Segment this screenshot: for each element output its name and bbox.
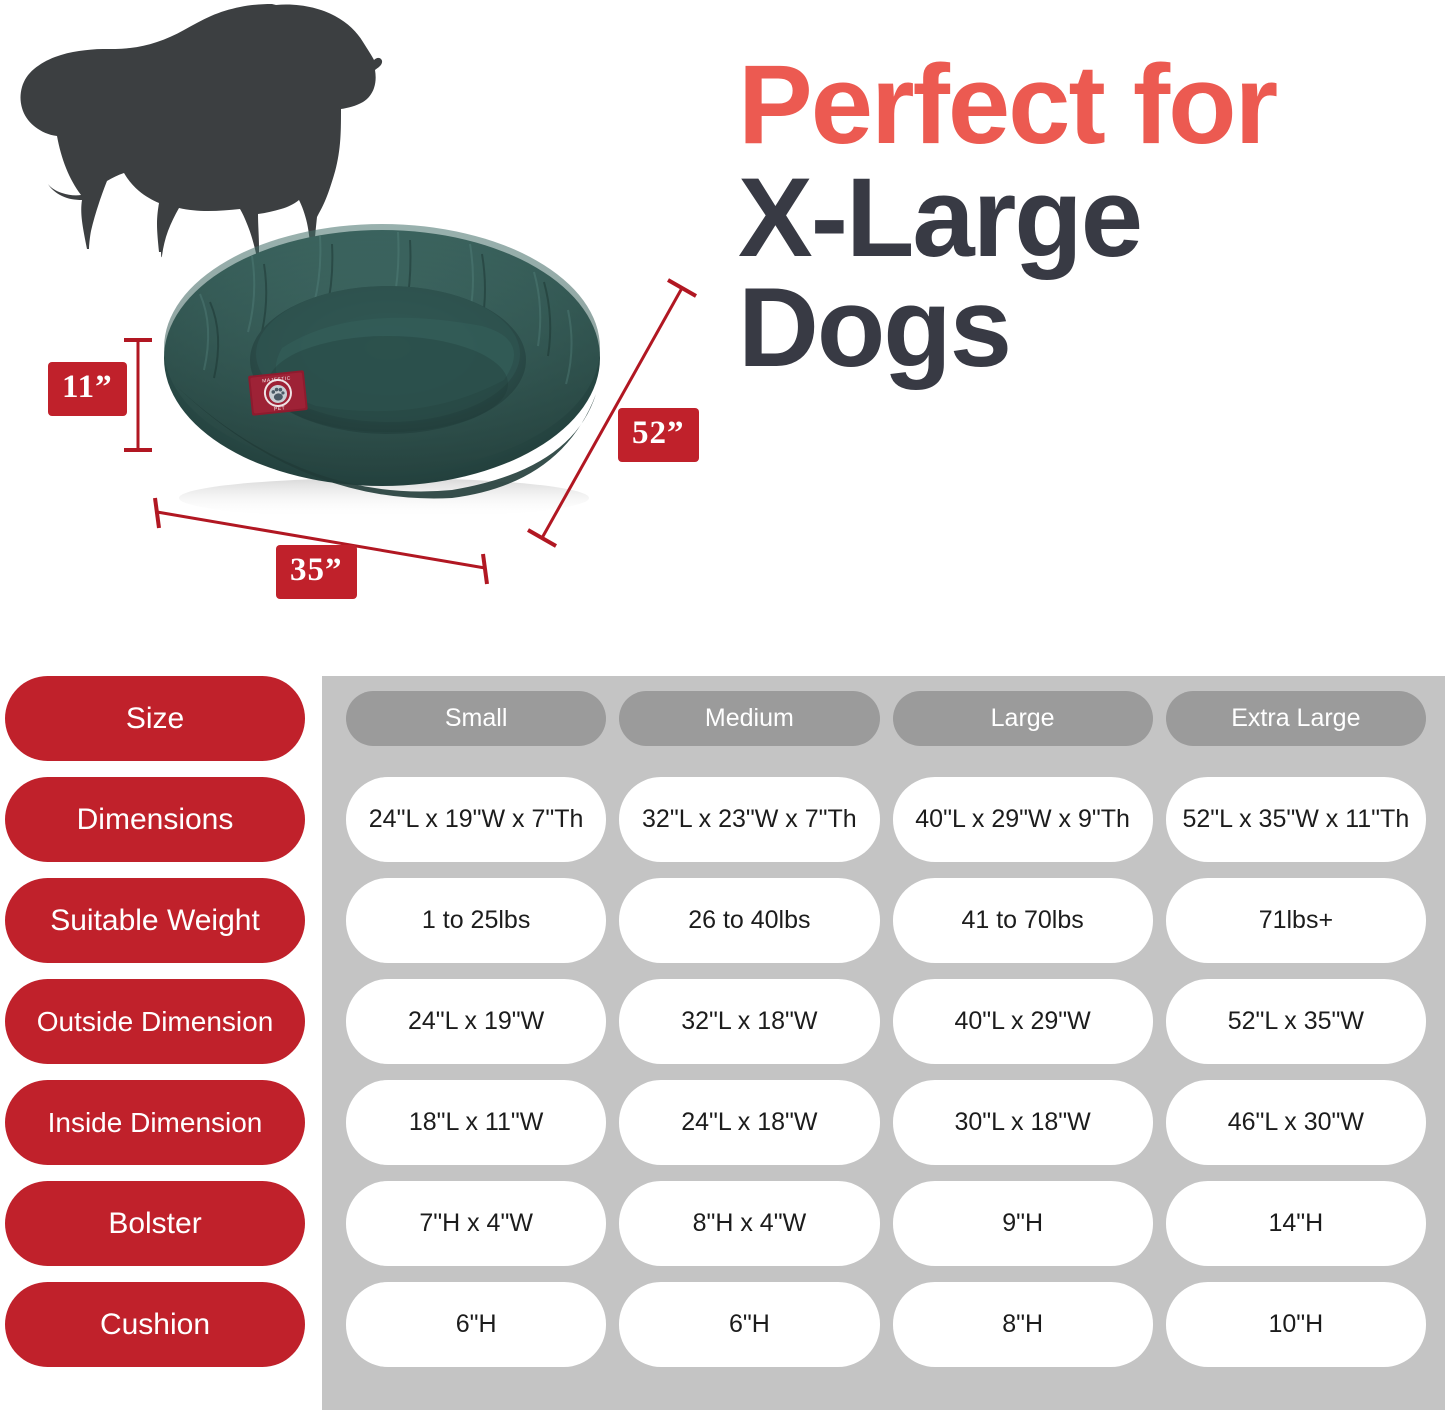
cell-outside-small: 24"L x 19"W: [346, 979, 606, 1064]
column-header-extra-large: Extra Large: [1166, 691, 1426, 746]
headline-line-1: Perfect for: [738, 52, 1438, 157]
hero-section: MAJESTIC PET 11” 52” 35”: [0, 0, 1445, 660]
cell-weight-small: 1 to 25lbs: [346, 878, 606, 963]
cell-bolster-small: 7"H x 4"W: [346, 1181, 606, 1266]
cell-weight-medium: 26 to 40lbs: [619, 878, 879, 963]
cell-weight-extra-large: 71lbs+: [1166, 878, 1426, 963]
cell-dimensions-large: 40"L x 29"W x 9"Th: [893, 777, 1153, 862]
cell-outside-large: 40"L x 29"W: [893, 979, 1153, 1064]
table-row: 24"L x 19"W x 7"Th 32"L x 23"W x 7"Th 40…: [346, 777, 1426, 862]
cell-dimensions-medium: 32"L x 23"W x 7"Th: [619, 777, 879, 862]
callout-width: 35”: [276, 545, 357, 599]
cell-inside-small: 18"L x 11"W: [346, 1080, 606, 1165]
spec-row-label-column: Size Dimensions Suitable Weight Outside …: [5, 676, 305, 1383]
row-label-size: Size: [5, 676, 305, 761]
spec-table-section: Size Dimensions Suitable Weight Outside …: [0, 660, 1445, 1410]
column-header-large: Large: [893, 691, 1153, 746]
row-label-bolster: Bolster: [5, 1181, 305, 1266]
callout-height: 11”: [48, 362, 127, 416]
cell-weight-large: 41 to 70lbs: [893, 878, 1153, 963]
cell-bolster-large: 9"H: [893, 1181, 1153, 1266]
cell-outside-extra-large: 52"L x 35"W: [1166, 979, 1426, 1064]
cell-dimensions-extra-large: 52"L x 35"W x 11"Th: [1166, 777, 1426, 862]
table-row: 7"H x 4"W 8"H x 4"W 9"H 14"H: [346, 1181, 1426, 1266]
infographic-page: MAJESTIC PET 11” 52” 35”: [0, 0, 1445, 1410]
row-label-dimensions: Dimensions: [5, 777, 305, 862]
row-label-inside-dimension: Inside Dimension: [5, 1080, 305, 1165]
table-row: 1 to 25lbs 26 to 40lbs 41 to 70lbs 71lbs…: [346, 878, 1426, 963]
row-label-cushion: Cushion: [5, 1282, 305, 1367]
cell-inside-large: 30"L x 18"W: [893, 1080, 1153, 1165]
cell-cushion-small: 6"H: [346, 1282, 606, 1367]
cell-bolster-medium: 8"H x 4"W: [619, 1181, 879, 1266]
column-header-medium: Medium: [619, 691, 879, 746]
cell-inside-extra-large: 46"L x 30"W: [1166, 1080, 1426, 1165]
table-header-row: Small Medium Large Extra Large: [346, 676, 1426, 761]
spec-value-grid: Small Medium Large Extra Large 24"L x 19…: [346, 676, 1426, 1383]
table-row: 18"L x 11"W 24"L x 18"W 30"L x 18"W 46"L…: [346, 1080, 1426, 1165]
cell-dimensions-small: 24"L x 19"W x 7"Th: [346, 777, 606, 862]
cell-inside-medium: 24"L x 18"W: [619, 1080, 879, 1165]
cell-cushion-medium: 6"H: [619, 1282, 879, 1367]
headline-line-2: X-Large: [738, 165, 1438, 270]
brand-tag: MAJESTIC PET: [248, 370, 308, 416]
headline-line-3: Dogs: [738, 275, 1438, 380]
cell-cushion-large: 8"H: [893, 1282, 1153, 1367]
table-row: 24"L x 19"W 32"L x 18"W 40"L x 29"W 52"L…: [346, 979, 1426, 1064]
callout-length: 52”: [618, 408, 699, 462]
cell-cushion-extra-large: 10"H: [1166, 1282, 1426, 1367]
table-row: 6"H 6"H 8"H 10"H: [346, 1282, 1426, 1367]
row-label-outside-dimension: Outside Dimension: [5, 979, 305, 1064]
cell-bolster-extra-large: 14"H: [1166, 1181, 1426, 1266]
cell-outside-medium: 32"L x 18"W: [619, 979, 879, 1064]
headline-block: Perfect for X-Large Dogs: [738, 52, 1438, 380]
svg-text:PET: PET: [274, 405, 286, 412]
row-label-suitable-weight: Suitable Weight: [5, 878, 305, 963]
column-header-small: Small: [346, 691, 606, 746]
